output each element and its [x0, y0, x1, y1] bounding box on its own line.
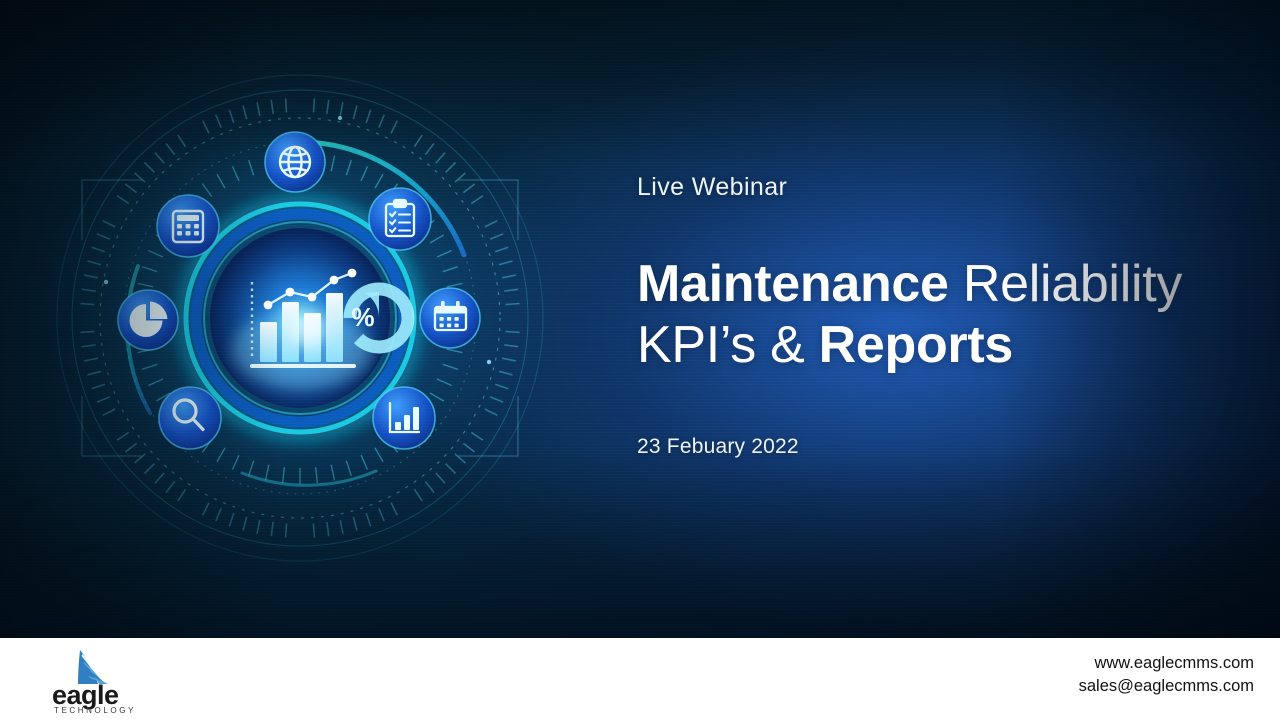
slide-copy: Live Webinar Maintenance Reliability KPI…: [637, 172, 1237, 459]
logo-tagline: TECHNOLOGY: [54, 706, 136, 714]
pie-chart-icon: [118, 290, 178, 350]
email-link[interactable]: sales@eaglecmms.com: [1079, 675, 1254, 698]
bar-chart-icon: [373, 387, 435, 449]
contact-info: www.eaglecmms.com sales@eaglecmms.com: [1079, 652, 1254, 699]
headline-line-2: KPI’s & Reports: [637, 315, 1237, 376]
website-link[interactable]: www.eaglecmms.com: [1079, 652, 1254, 675]
tech-circle-graphic: %: [20, 30, 580, 590]
eagle-technology-logo: eagle TECHNOLOGY: [48, 646, 198, 714]
headline-bold-1: Maintenance: [637, 255, 949, 313]
headline-regular-2: KPI’s &: [637, 316, 819, 374]
webinar-title-slide: %: [0, 0, 1280, 720]
eagle-sail-mark: [78, 650, 108, 684]
slide-footer: eagle TECHNOLOGY www.eaglecmms.com sales…: [0, 638, 1280, 720]
clipboard-checklist-icon: [369, 188, 431, 250]
globe-icon: [265, 132, 325, 192]
calculator-icon: [157, 195, 219, 257]
slide-stage: %: [0, 0, 1280, 638]
svg-text:%: %: [351, 302, 374, 332]
page-title: Maintenance Reliability KPI’s & Reports: [637, 254, 1237, 377]
headline-regular-1: Reliability: [949, 255, 1182, 313]
event-date: 23 Febuary 2022: [637, 435, 1237, 459]
eyebrow-label: Live Webinar: [637, 172, 1237, 202]
magnifier-icon: [159, 387, 221, 449]
calendar-icon: [420, 288, 480, 348]
headline-bold-2: Reports: [819, 316, 1013, 374]
